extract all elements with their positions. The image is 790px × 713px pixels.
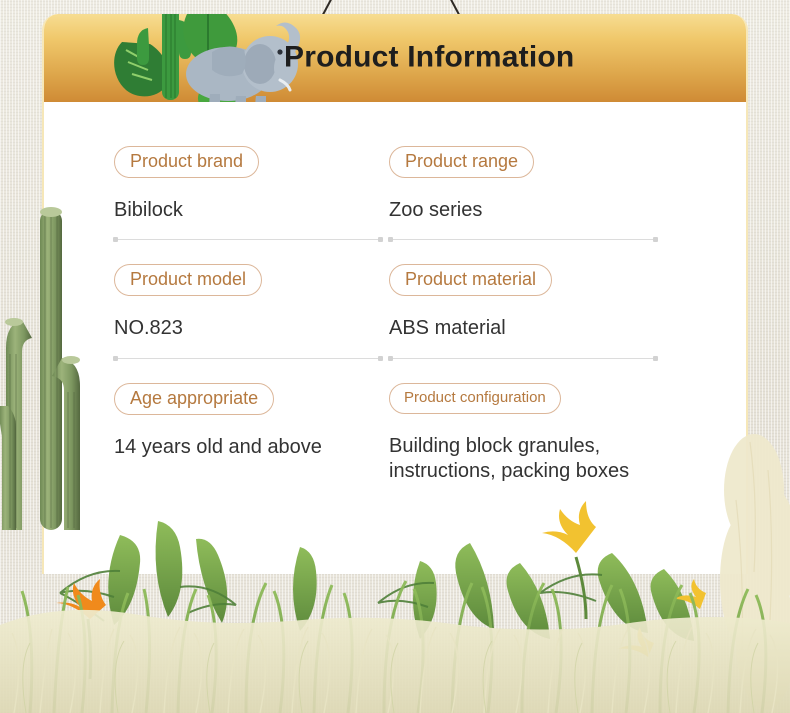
field-label-pill: Product configuration [389,383,561,414]
field-row: Product brand Bibilock Product range Zoo… [44,146,746,240]
field-product-range: Product range Zoo series [379,146,714,240]
field-label-pill: Product model [114,264,262,296]
field-underline [389,358,657,359]
field-underline [114,358,382,359]
row-spacer [44,359,746,383]
field-product-material: Product material ABS material [379,264,714,358]
field-age-appropriate: Age appropriate 14 years old and above [44,383,379,502]
field-row: Product model NO.823 Product material AB… [44,264,746,358]
field-product-brand: Product brand Bibilock [44,146,379,240]
field-underline [114,239,382,240]
field-value: ABS material [389,316,714,342]
field-label-pill: Product brand [114,146,259,178]
page-title: Product Information [284,40,574,74]
field-row: Age appropriate 14 years old and above P… [44,383,746,502]
product-information-card: Product Information Product brand Bibilo… [42,14,748,574]
field-product-configuration: Product configuration Building block gra… [379,383,714,502]
field-value: NO.823 [114,316,379,342]
field-value: Building block granules, instructions, p… [389,434,714,485]
field-value: Zoo series [389,198,714,224]
field-label-pill: Age appropriate [114,383,274,415]
fields-container: Product brand Bibilock Product range Zoo… [44,102,746,502]
field-underline [389,239,657,240]
field-label-pill: Product material [389,264,552,296]
field-product-model: Product model NO.823 [44,264,379,358]
field-value: 14 years old and above [114,435,379,461]
field-label-pill: Product range [389,146,534,178]
row-spacer [44,240,746,264]
field-value: Bibilock [114,198,379,224]
card-header: Product Information [44,14,746,102]
